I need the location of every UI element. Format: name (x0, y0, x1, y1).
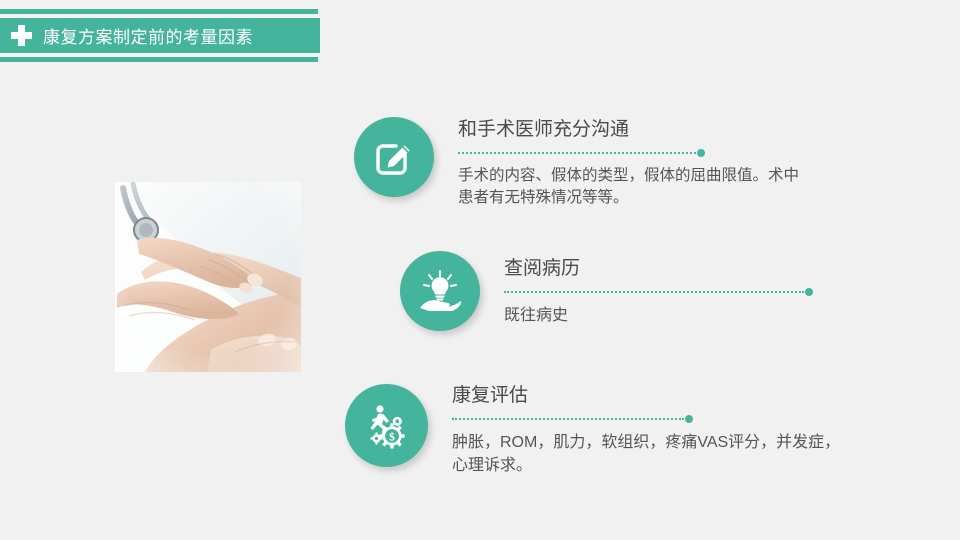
title-bar: 康复方案制定前的考量因素 (0, 18, 320, 53)
divider-dotted (504, 288, 854, 296)
dot-end-marker (805, 288, 813, 296)
edit-pencil-square-icon (354, 117, 434, 197)
divider-dotted (452, 415, 852, 423)
dotted-line (458, 152, 696, 154)
info-block-title: 康复评估 (452, 384, 852, 408)
medical-cross-icon (11, 25, 32, 46)
svg-text:$: $ (389, 430, 395, 443)
info-block-title: 查阅病历 (504, 257, 854, 281)
page-title: 康复方案制定前的考量因素 (43, 23, 253, 48)
info-block-body: 康复评估 肿胀，ROM，肌力，软组织，疼痛VAS评分，并发症，心理诉求。 (452, 384, 852, 477)
info-block-title: 和手术医师充分沟通 (458, 118, 808, 142)
info-block: 查阅病历 既往病史 (400, 251, 854, 331)
divider-dotted (458, 149, 808, 157)
info-block-body: 和手术医师充分沟通 手术的内容、假体的类型，假体的屈曲限值。术中患者有无特殊情况… (458, 118, 808, 210)
info-block-description: 肿胀，ROM，肌力，软组织，疼痛VAS评分，并发症，心理诉求。 (452, 431, 852, 477)
info-block-description: 既往病史 (504, 304, 854, 327)
title-bottom-rule (0, 57, 318, 62)
info-block-description: 手术的内容、假体的类型，假体的屈曲限值。术中患者有无特殊情况等等。 (458, 165, 808, 210)
title-top-rule (0, 9, 318, 14)
clinical-hand-examination-photo (115, 182, 301, 372)
info-block: 和手术医师充分沟通 手术的内容、假体的类型，假体的屈曲限值。术中患者有无特殊情况… (354, 117, 808, 210)
dotted-line (504, 291, 804, 293)
running-person-gears-icon: $ (345, 384, 428, 467)
info-block-body: 查阅病历 既往病史 (504, 257, 854, 327)
dot-end-marker (697, 149, 705, 157)
hand-holding-lightbulb-icon (400, 251, 480, 331)
dotted-line (452, 418, 684, 420)
dot-end-marker (685, 415, 693, 423)
title-bar-container: 康复方案制定前的考量因素 (0, 9, 320, 62)
info-block: $ 康复评估 肿胀，ROM，肌力，软组织，疼痛VAS评分，并发症，心理诉求。 (345, 384, 852, 477)
